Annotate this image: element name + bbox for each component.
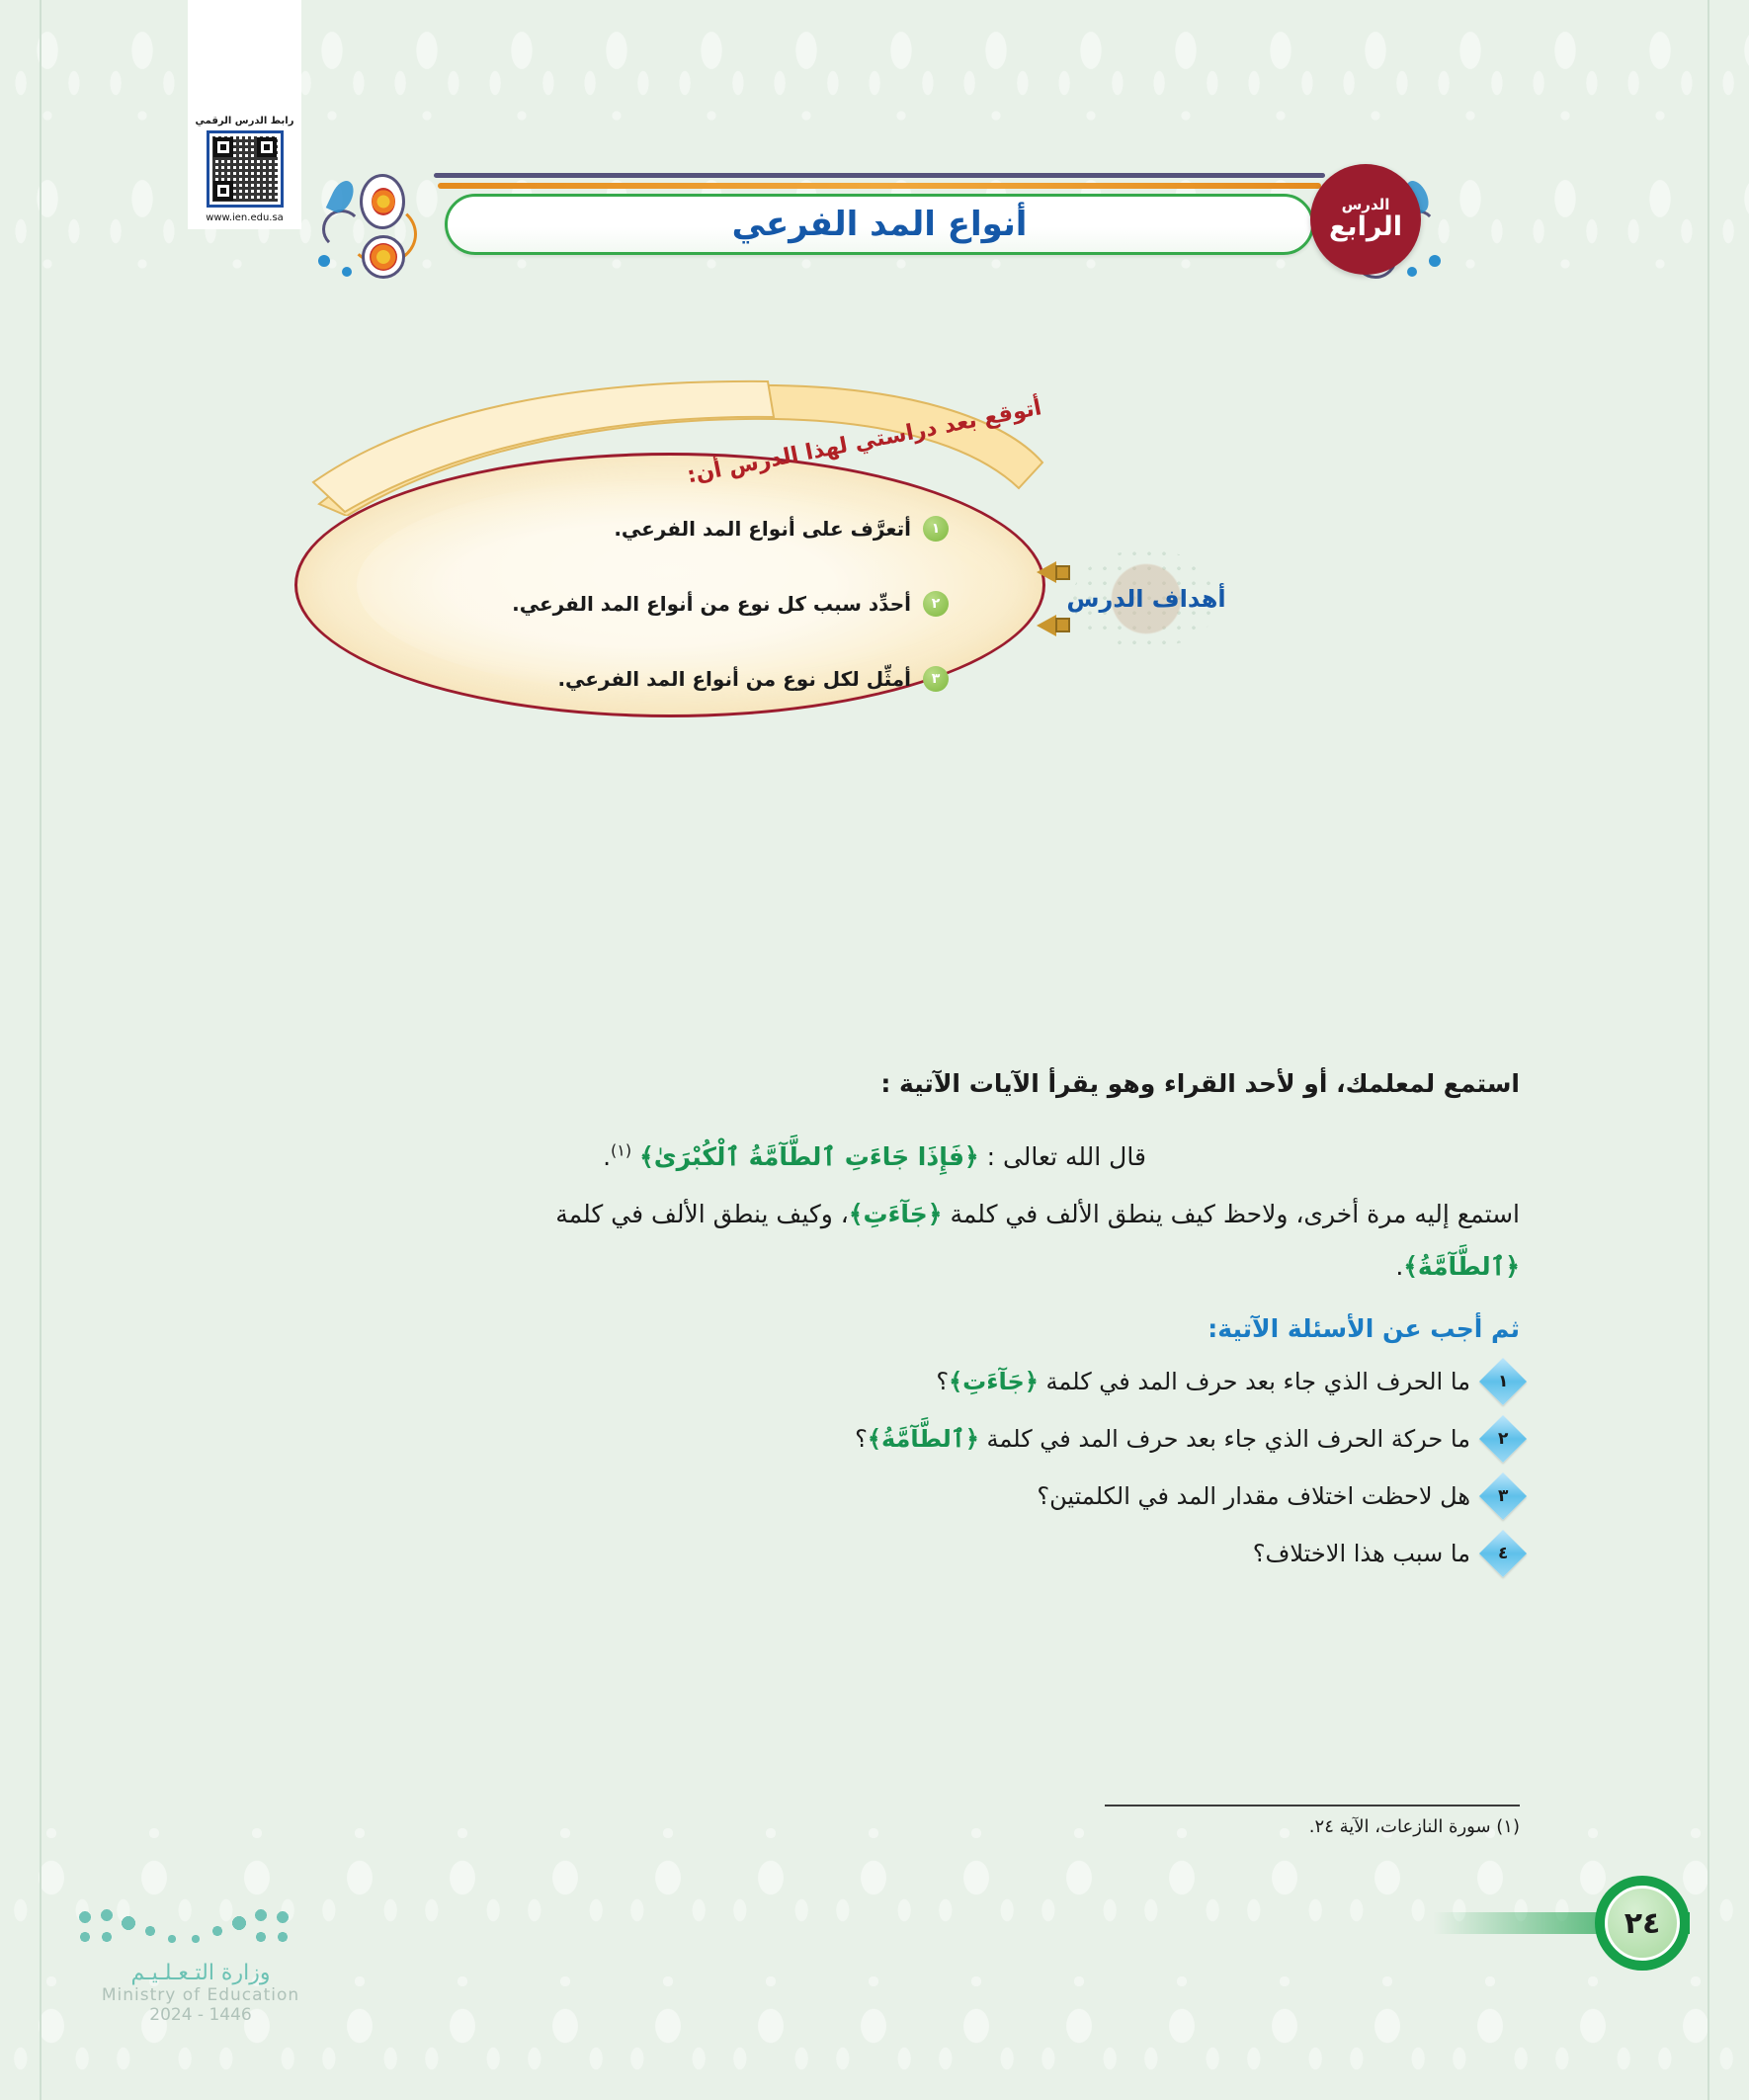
objective-text-2: أحدِّد سبب كل نوع من أنواع المد الفرعي.	[512, 592, 911, 616]
question-2-quran-word: ٱلطَّآمَّةُ	[868, 1425, 979, 1453]
question-1-before: ما الحرف الذي جاء بعد حرف المد في كلمة	[1046, 1368, 1470, 1395]
verse-end-period: .	[603, 1142, 611, 1171]
objective-number-2: ٢	[923, 591, 949, 617]
question-number-badge-4: ٤	[1479, 1530, 1527, 1577]
question-text-4: ما سبب هذا الاختلاف؟	[1253, 1540, 1470, 1567]
objective-item-2: ٢ أحدِّد سبب كل نوع من أنواع المد الفرعي…	[512, 591, 949, 617]
question-text-1: ما الحرف الذي جاء بعد حرف المد في كلمة ج…	[936, 1368, 1470, 1395]
qr-finder-top-right	[257, 137, 277, 157]
question-text-2: ما حركة الحرف الذي جاء بعد حرف المد في ك…	[855, 1425, 1470, 1453]
ministry-name-en: Ministry of Education	[77, 1985, 324, 2005]
page-number-value: ٢٤	[1624, 1906, 1661, 1941]
quran-word-attammah: ٱلطَّآمَّةُ	[1403, 1252, 1520, 1281]
textbook-page: رابط الدرس الرقمي www.ien.edu.sa	[0, 0, 1749, 2100]
question-1-after: ؟	[936, 1368, 949, 1395]
objective-number-3: ٣	[923, 666, 949, 692]
qr-finder-top-left	[213, 137, 233, 157]
moe-dots-icon	[77, 1907, 324, 1955]
verse-footnote-ref: (١)	[611, 1140, 631, 1159]
question-1-quran-word: جَآءَتِ	[949, 1368, 1039, 1395]
arrow-tab-bottom	[1055, 618, 1070, 632]
question-number-badge-3: ٣	[1479, 1472, 1527, 1520]
lesson-header-banner: أنواع المد الفرعي الدرس الرابع	[326, 146, 1433, 293]
page-edge-rule-right	[1707, 0, 1709, 2100]
ministry-year: 2024 - 1446	[77, 2005, 324, 2025]
objective-number-1: ١	[923, 516, 949, 542]
question-row-1: ١ ما الحرف الذي جاء بعد حرف المد في كلمة…	[229, 1365, 1520, 1398]
lesson-body: استمع لمعلمك، أو لأحد القراء وهو يقرأ ال…	[229, 1062, 1520, 1594]
digital-lesson-link-card[interactable]: رابط الدرس الرقمي www.ien.edu.sa	[188, 0, 301, 229]
para-text-a: استمع إليه مرة أخرى، ولاحظ كيف ينطق الأل…	[950, 1200, 1520, 1228]
question-number-badge-2: ٢	[1479, 1415, 1527, 1463]
objective-item-1: ١ أتعرَّف على أنواع المد الفرعي.	[614, 516, 949, 542]
quran-verse-line: قال الله تعالى : فَإِذَا جَاءَتِ ٱلطَّآم…	[229, 1135, 1520, 1179]
ministry-of-education-logo: وزارة التـعـلـيـم Ministry of Education …	[77, 1907, 324, 2025]
objectives-side-label-text: أهداف الدرس	[1066, 585, 1225, 613]
footnote-text: (١) سورة النازعات، الآية ٢٤.	[1045, 1816, 1520, 1837]
qr-finder-bottom-left	[213, 181, 233, 201]
lesson-title-plate: أنواع المد الفرعي	[445, 194, 1314, 255]
ministry-name-ar: وزارة التـعـلـيـم	[77, 1961, 324, 1985]
lesson-number-badge: الدرس الرابع	[1310, 164, 1421, 275]
page-edge-rule-left	[40, 0, 42, 2100]
lesson-badge-ordinal: الرابع	[1329, 213, 1402, 241]
question-2-after: ؟	[855, 1425, 868, 1453]
objective-text-3: أمثِّل لكل نوع من أنواع المد الفرعي.	[557, 667, 911, 691]
objective-text-1: أتعرَّف على أنواع المد الفرعي.	[614, 517, 911, 541]
question-text-3: هل لاحظت اختلاف مقدار المد في الكلمتين؟	[1037, 1482, 1470, 1510]
qr-label: رابط الدرس الرقمي	[196, 116, 294, 126]
listening-instruction: استمع لمعلمك، أو لأحد القراء وهو يقرأ ال…	[229, 1062, 1520, 1106]
listen-again-paragraph-tail: ٱلطَّآمَّةُ.	[229, 1245, 1520, 1289]
arrow-left-icon-bottom	[1037, 615, 1056, 636]
objective-item-3: ٣ أمثِّل لكل نوع من أنواع المد الفرعي.	[557, 666, 949, 692]
qr-url: www.ien.edu.sa	[206, 212, 284, 223]
arrow-tab-top	[1055, 565, 1070, 580]
qr-code-icon[interactable]	[207, 130, 284, 208]
question-row-4: ٤ ما سبب هذا الاختلاف؟	[229, 1537, 1520, 1570]
objectives-side-label: أهداف الدرس	[1033, 546, 1260, 652]
listen-again-paragraph: استمع إليه مرة أخرى، ولاحظ كيف ينطق الأل…	[229, 1193, 1520, 1236]
question-row-3: ٣ هل لاحظت اختلاف مقدار المد في الكلمتين…	[229, 1479, 1520, 1513]
questions-heading: ثم أجب عن الأسئلة الآتية:	[229, 1314, 1520, 1343]
question-row-2: ٢ ما حركة الحرف الذي جاء بعد حرف المد في…	[229, 1422, 1520, 1456]
page-title: أنواع المد الفرعي	[448, 197, 1311, 252]
question-2-before: ما حركة الحرف الذي جاء بعد حرف المد في ك…	[987, 1425, 1470, 1453]
para-text-b: ، وكيف ينطق الألف في كلمة	[555, 1200, 849, 1228]
lesson-objectives-panel: أتوقع بعد دراستي لهذا الدرس أن: ١ أتعرَّ…	[287, 425, 1057, 751]
quran-verse: فَإِذَا جَاءَتِ ٱلطَّآمَّةُ ٱلْكُبْرَىٰ	[639, 1142, 979, 1171]
footnote-area: (١) سورة النازعات، الآية ٢٤.	[1045, 1805, 1520, 1837]
quran-word-jaat: جَآءَتِ	[849, 1200, 943, 1228]
question-number-badge-1: ١	[1479, 1358, 1527, 1405]
arrow-left-icon-top	[1037, 561, 1056, 583]
verse-intro: قال الله تعالى :	[987, 1142, 1146, 1171]
footnote-divider	[1105, 1805, 1520, 1806]
page-number-badge: ٢٤	[1595, 1876, 1690, 1971]
